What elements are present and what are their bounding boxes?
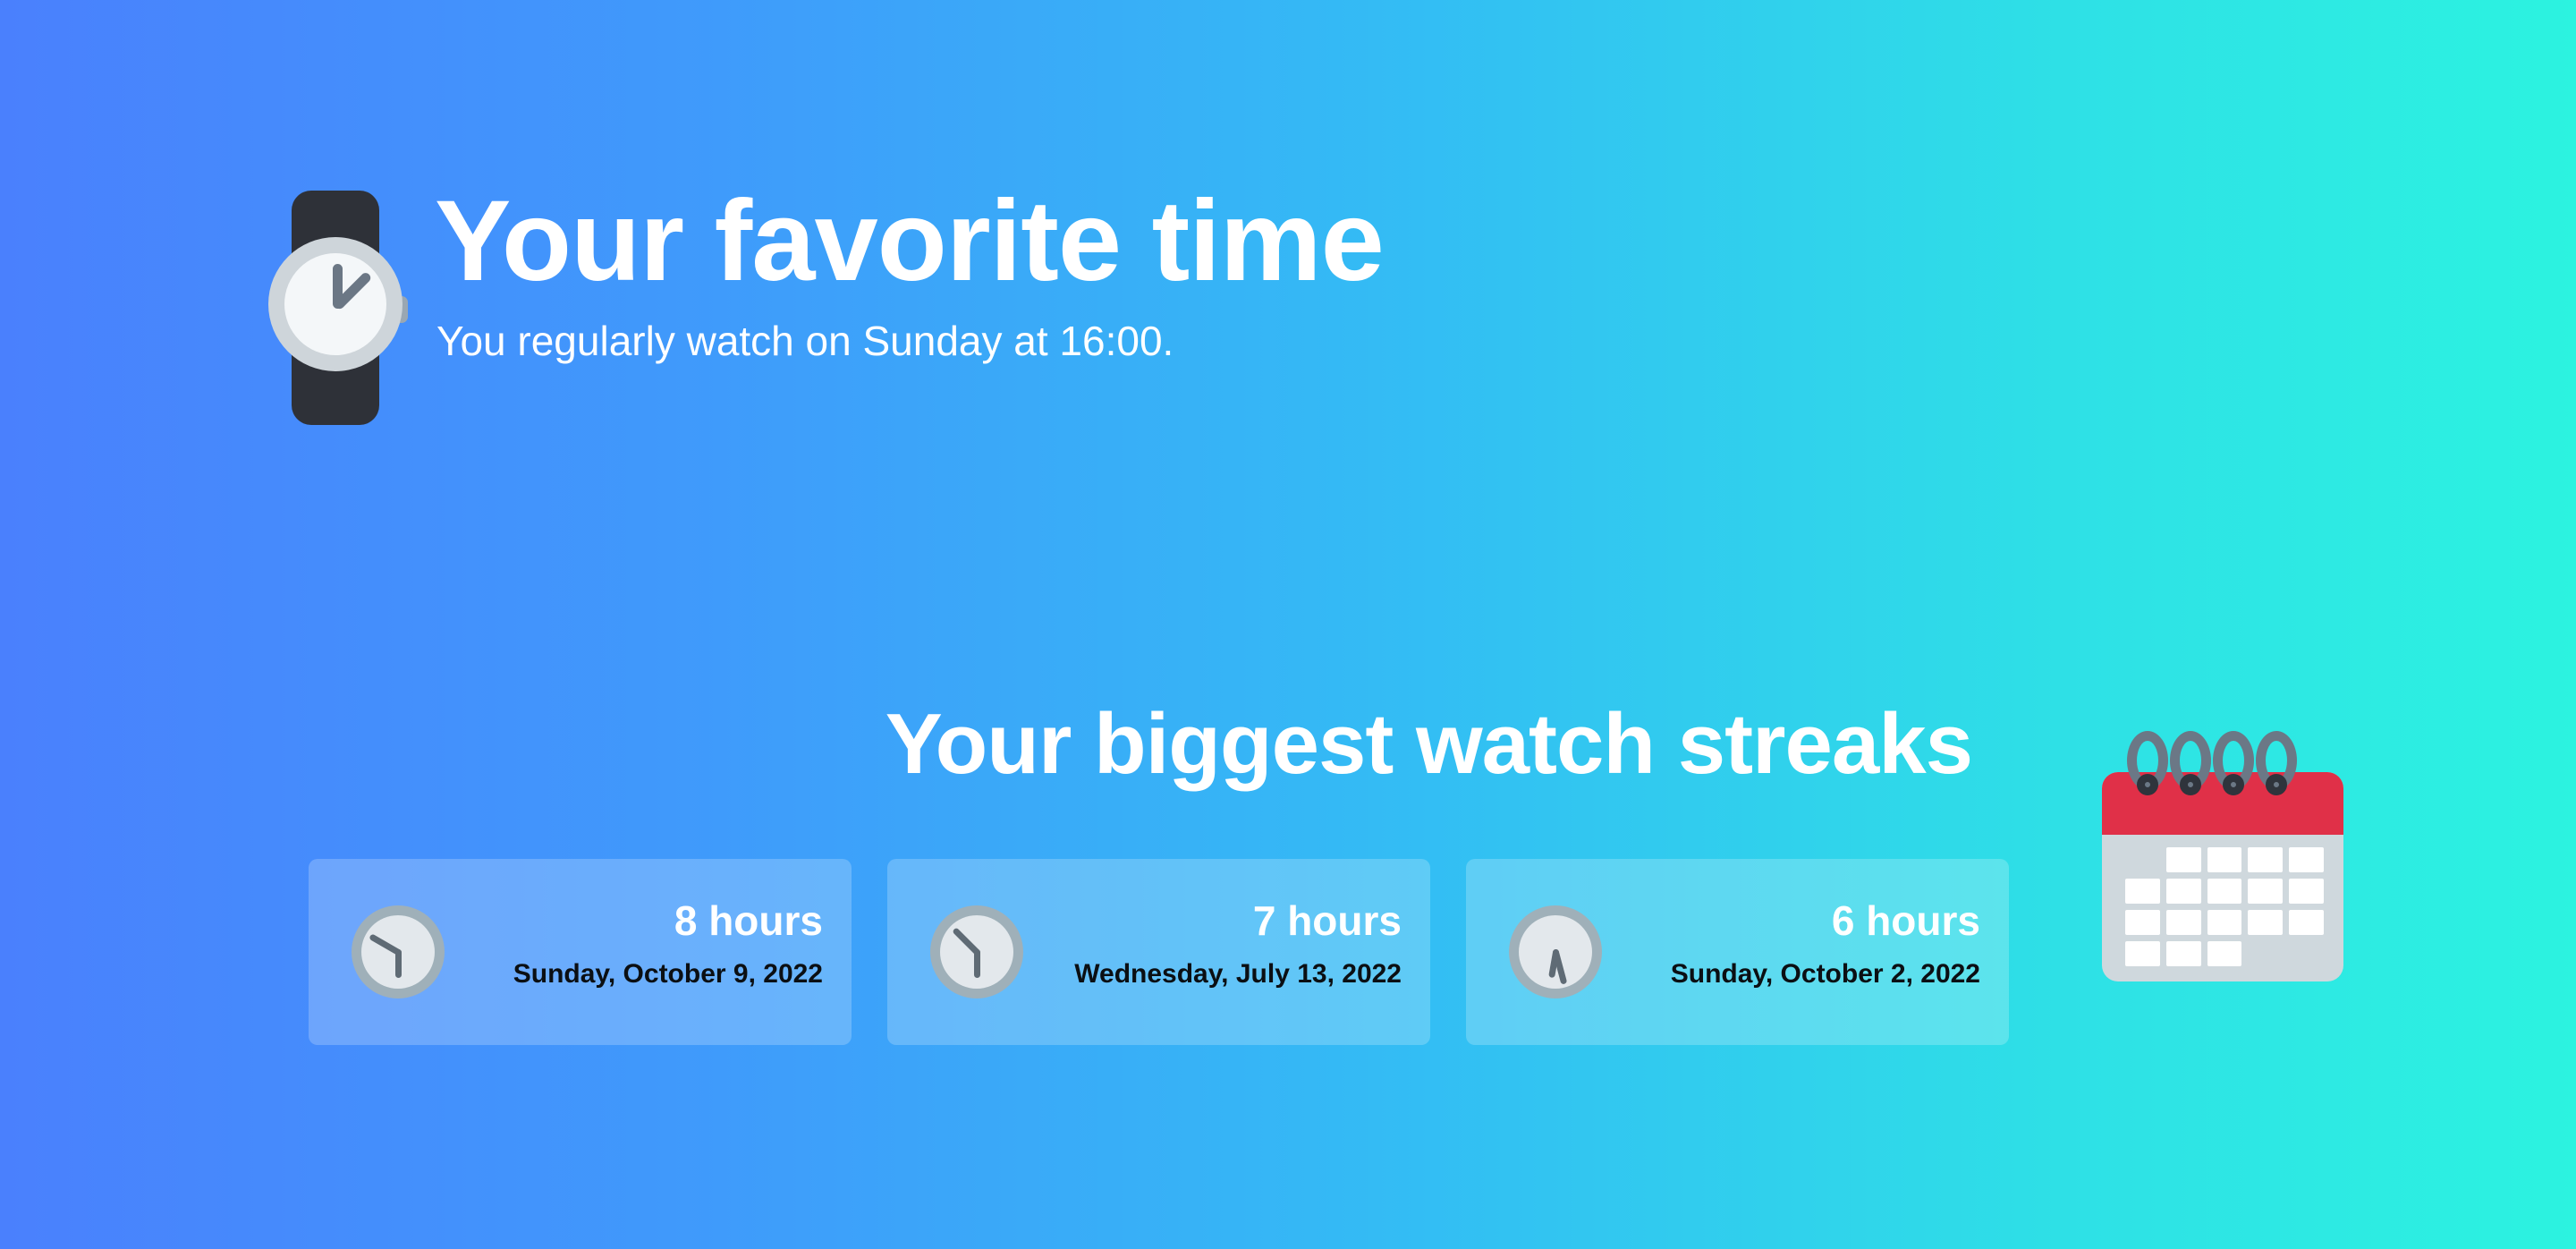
wristwatch-icon <box>259 191 417 425</box>
clock-icon <box>352 905 445 998</box>
calendar-empty-cell <box>2125 847 2160 872</box>
calendar-empty-cell <box>2289 941 2324 966</box>
calendar-day-cell <box>2166 910 2201 935</box>
calendar-day-cell <box>2207 910 2242 935</box>
calendar-day-cell <box>2207 879 2242 904</box>
calendar-day-cell <box>2207 847 2242 872</box>
streak-hours: 6 hours <box>1671 898 1980 944</box>
streak-hours: 8 hours <box>513 898 823 944</box>
streaks-title: Your biggest watch streaks <box>885 698 1972 791</box>
calendar-day-cell <box>2207 941 2242 966</box>
calendar-day-cell <box>2289 879 2324 904</box>
streak-date: Wednesday, July 13, 2022 <box>1074 958 1402 990</box>
watch-streaks-section: Your biggest watch streaks 8 hours Sunda… <box>309 698 2357 841</box>
streak-date: Sunday, October 2, 2022 <box>1671 958 1980 990</box>
calendar-ring-foot <box>2266 774 2287 795</box>
favorite-time-subtitle: You regularly watch on Sunday at 16:00. <box>436 317 1384 366</box>
calendar-day-cell <box>2166 941 2201 966</box>
streak-date: Sunday, October 9, 2022 <box>513 958 823 990</box>
calendar-day-cell <box>2125 910 2160 935</box>
calendar-icon <box>2102 731 2343 981</box>
calendar-day-cell <box>2125 879 2160 904</box>
favorite-time-text: Your favorite time You regularly watch o… <box>435 183 1384 366</box>
calendar-day-cell <box>2248 879 2283 904</box>
calendar-day-cell <box>2166 847 2201 872</box>
calendar-empty-cell <box>2248 941 2283 966</box>
page-title: Your favorite time <box>435 183 1384 301</box>
streak-card-list: 8 hours Sunday, October 9, 2022 7 hours … <box>309 859 2009 1045</box>
calendar-day-cell <box>2248 910 2283 935</box>
favorite-time-section: Your favorite time You regularly watch o… <box>259 183 1384 425</box>
calendar-ring-foot <box>2137 774 2158 795</box>
streak-card[interactable]: 6 hours Sunday, October 2, 2022 <box>1466 859 2009 1045</box>
streak-hours: 7 hours <box>1074 898 1402 944</box>
streak-card-text: 6 hours Sunday, October 2, 2022 <box>1671 898 1980 990</box>
streaks-header: Your biggest watch streaks <box>309 698 2357 841</box>
calendar-day-cell <box>2289 847 2324 872</box>
clock-icon <box>930 905 1023 998</box>
calendar-day-cell <box>2289 910 2324 935</box>
clock-icon <box>1509 905 1602 998</box>
calendar-rings <box>2127 731 2318 792</box>
calendar-grid <box>2125 847 2324 966</box>
streak-card[interactable]: 8 hours Sunday, October 9, 2022 <box>309 859 852 1045</box>
calendar-ring-foot <box>2223 774 2244 795</box>
calendar-body <box>2102 772 2343 981</box>
calendar-day-cell <box>2166 879 2201 904</box>
calendar-day-cell <box>2248 847 2283 872</box>
streak-card-text: 7 hours Wednesday, July 13, 2022 <box>1074 898 1402 990</box>
calendar-ring-foot <box>2180 774 2201 795</box>
streak-card[interactable]: 7 hours Wednesday, July 13, 2022 <box>887 859 1430 1045</box>
calendar-day-cell <box>2125 941 2160 966</box>
streak-card-text: 8 hours Sunday, October 9, 2022 <box>513 898 823 990</box>
stats-banner: Your favorite time You regularly watch o… <box>0 0 2576 1249</box>
